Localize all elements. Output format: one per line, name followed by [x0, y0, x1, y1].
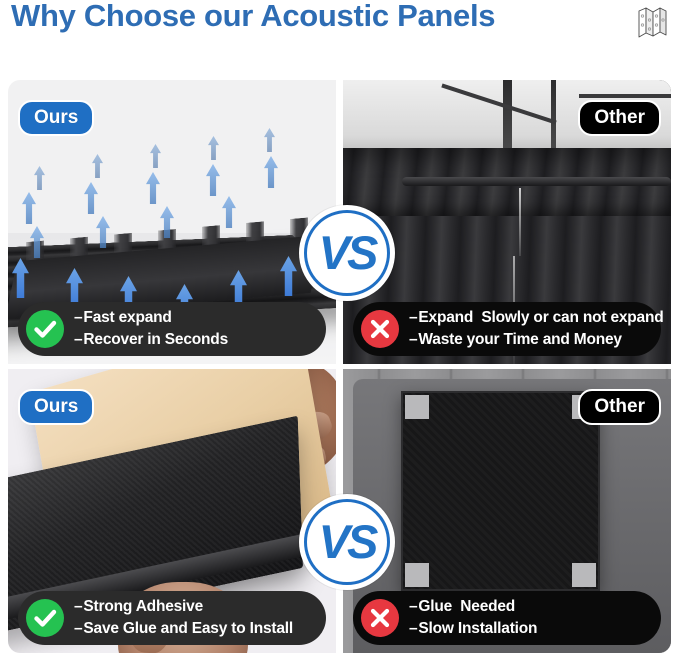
caption-ours-install: Strong Adhesive Save Glue and Easy to In…: [18, 591, 326, 645]
comparison-cell-other-install: Other Glue Needed Slow Installation: [343, 369, 671, 653]
caption-other-expand: Expand Slowly or can not expand Waste yo…: [353, 302, 661, 356]
caption-line: Waste your Time and Money: [409, 330, 664, 350]
vs-label: VS: [319, 518, 376, 565]
vs-badge-bottom: VS: [299, 494, 395, 590]
caption-line: Glue Needed: [409, 597, 537, 617]
comparison-grid: Ours Fast expand Recover in Seconds: [8, 80, 671, 653]
check-icon: [26, 310, 64, 348]
comparison-cell-ours-expand: Ours Fast expand Recover in Seconds: [8, 80, 336, 364]
caption-line: Strong Adhesive: [74, 597, 293, 617]
check-icon: [26, 599, 64, 637]
cross-icon: [361, 599, 399, 637]
vs-badge-top: VS: [299, 205, 395, 301]
tag-ours: Ours: [18, 389, 94, 425]
acoustic-panel-icon: [633, 3, 671, 41]
comparison-cell-other-expand: Other Expand Slowly or can not expand Wa…: [343, 80, 671, 364]
tag-ours: Ours: [18, 100, 94, 136]
caption-line: Expand Slowly or can not expand: [409, 308, 664, 328]
comparison-cell-ours-install: Ours Strong Adhesive Save Glue and Easy …: [8, 369, 336, 653]
caption-ours-expand: Fast expand Recover in Seconds: [18, 302, 326, 356]
tag-other: Other: [578, 389, 661, 425]
caption-line: Slow Installation: [409, 619, 537, 639]
tag-other: Other: [578, 100, 661, 136]
page-title: Why Choose our Acoustic Panels: [11, 0, 495, 34]
caption-line: Fast expand: [74, 308, 228, 328]
caption-line: Save Glue and Easy to Install: [74, 619, 293, 639]
caption-line: Recover in Seconds: [74, 330, 228, 350]
header: Why Choose our Acoustic Panels: [0, 0, 679, 76]
cross-icon: [361, 310, 399, 348]
caption-other-install: Glue Needed Slow Installation: [353, 591, 661, 645]
vs-label: VS: [319, 229, 376, 276]
